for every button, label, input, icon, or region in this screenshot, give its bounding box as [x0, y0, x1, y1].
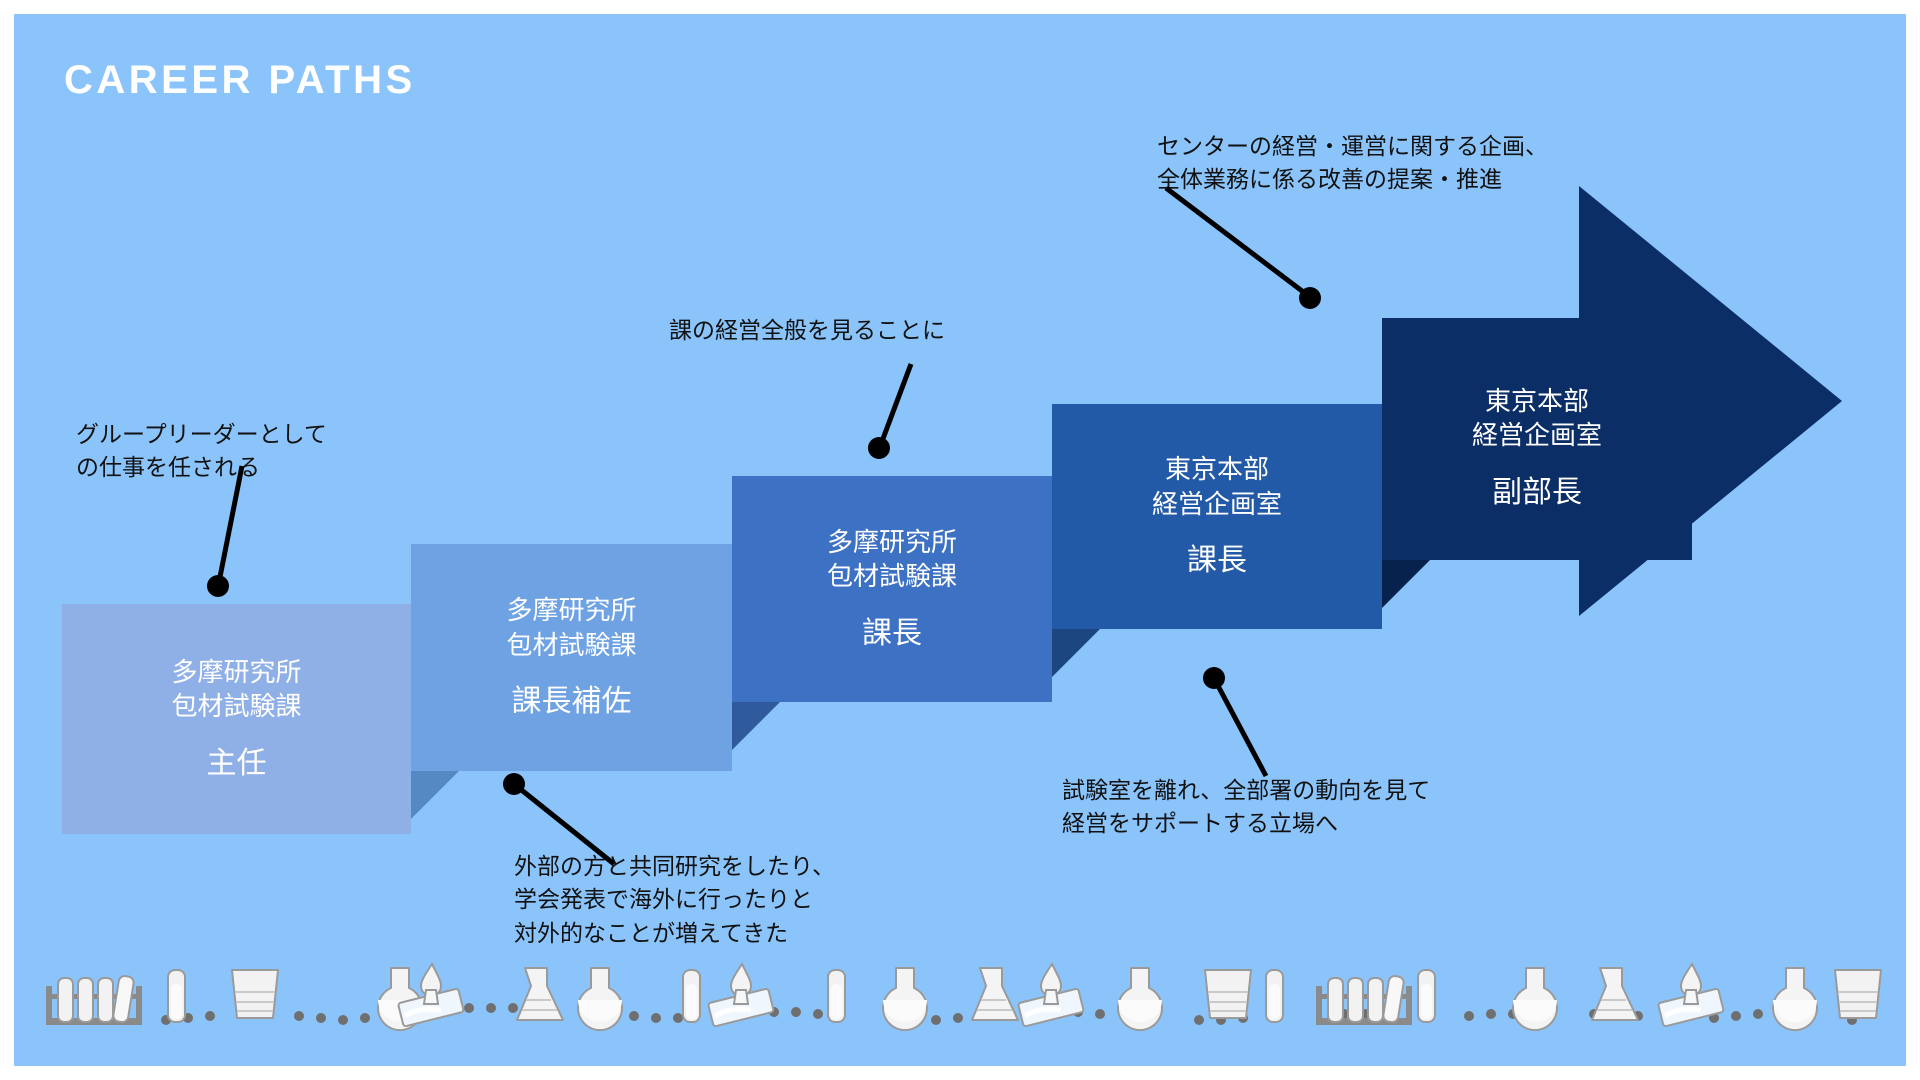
lab-equipment-strip: [14, 942, 1906, 1052]
step-2-org-line1: 多摩研究所: [506, 593, 636, 627]
step-3-rank: 課長: [862, 614, 922, 654]
step-2-box[interactable]: 多摩研究所 包材試験課 課長補佐: [411, 544, 732, 771]
lab-icon-test-tube: [683, 970, 700, 1022]
annotation-4-text: 試験室を離れ、全部署の動向を見て 経営をサポートする立場へ: [1062, 774, 1542, 841]
step-4-box[interactable]: 東京本部 経営企画室 課長: [1052, 404, 1382, 629]
step-4-notch: [1052, 629, 1100, 677]
step-3-box[interactable]: 多摩研究所 包材試験課 課長: [732, 476, 1052, 702]
annotation-2-leader: [502, 774, 632, 874]
step-4-rank: 課長: [1187, 541, 1247, 581]
step-2-org-line2: 包材試験課: [506, 628, 636, 662]
lab-icon-test-tube: [168, 970, 185, 1022]
lab-icon-beaker: [232, 970, 278, 1018]
annotation-3-text: 課の経営全般を見ることに: [669, 314, 1069, 347]
lab-icon-dropper-pipette: [1018, 964, 1084, 1027]
step-2-rank: 課長補佐: [512, 682, 632, 722]
page-title: CAREER PATHS: [64, 58, 416, 103]
step-5-org-line1: 東京本部: [1485, 384, 1589, 418]
lab-icon-beaker: [1205, 970, 1251, 1018]
lab-icon-beaker: [1835, 970, 1881, 1018]
lab-icon-test-tube: [828, 970, 845, 1022]
step-3-org-line2: 包材試験課: [827, 559, 957, 593]
lab-icon-test-tube-rack: [46, 975, 142, 1025]
diagram-background: CAREER PATHS 東京本部 経営企画室 副部長 東京本部 経営企画室 課…: [14, 14, 1906, 1066]
step-1-rank: 主任: [207, 744, 267, 784]
step-5-box[interactable]: 東京本部 経営企画室 副部長: [1382, 336, 1692, 560]
lab-icon-test-tube: [1266, 970, 1283, 1022]
step-3-notch: [732, 702, 780, 750]
slide-canvas: CAREER PATHS 東京本部 経営企画室 副部長 東京本部 経営企画室 課…: [0, 0, 1920, 1080]
step-1-box[interactable]: 多摩研究所 包材試験課 主任: [62, 604, 411, 834]
step-3-org-line1: 多摩研究所: [827, 525, 957, 559]
lab-icon-erlenmeyer-flask: [972, 968, 1018, 1020]
lab-icon-round-flask: [578, 968, 622, 1030]
lab-icon-dropper-pipette: [708, 964, 774, 1027]
annotation-5-leader: [1154, 176, 1344, 316]
annotation-1-leader: [194, 454, 274, 604]
step-1-org-line2: 包材試験課: [171, 689, 301, 723]
step-5-org-line2: 経営企画室: [1472, 418, 1602, 452]
step-5-rank: 副部長: [1492, 473, 1582, 513]
lab-icon-round-flask: [883, 968, 927, 1030]
lab-icon-round-flask: [1773, 968, 1817, 1030]
lab-icon-erlenmeyer-flask: [517, 968, 563, 1020]
step-1-org-line1: 多摩研究所: [171, 655, 301, 689]
step-4-org-line1: 東京本部: [1165, 452, 1269, 486]
lab-icon-test-tube: [1418, 970, 1435, 1022]
step-5-notch: [1382, 560, 1430, 608]
step-4-org-line2: 経営企画室: [1152, 487, 1282, 521]
lab-icon-round-flask: [1118, 968, 1162, 1030]
step-2-notch: [411, 771, 459, 819]
lab-icon-round-flask: [1513, 968, 1557, 1030]
annotation-3-leader: [859, 354, 939, 464]
lab-icon-erlenmeyer-flask: [1592, 968, 1638, 1020]
annotation-4-leader: [1194, 664, 1314, 784]
